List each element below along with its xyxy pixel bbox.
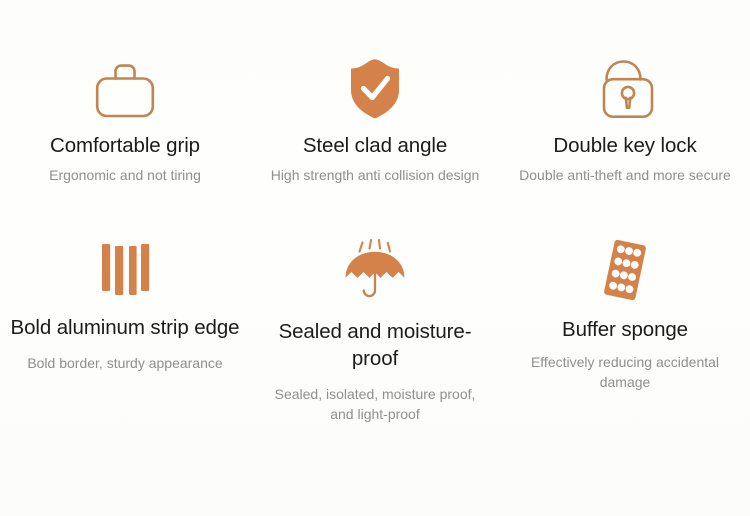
feature-title: Comfortable grip [50, 132, 200, 159]
feature-description: Effectively reducing accidental damage [518, 352, 733, 392]
feature-grid: Comfortable grip Ergonomic and not tirin… [0, 0, 750, 516]
shield-check-icon [347, 52, 403, 126]
feature-card-steel-clad-angle: Steel clad angle High strength anti coll… [250, 0, 500, 220]
feature-description: Bold border, sturdy appearance [27, 353, 222, 373]
feature-card-comfortable-grip: Comfortable grip Ergonomic and not tirin… [0, 0, 250, 220]
umbrella-icon [342, 234, 408, 308]
feature-card-sealed-moisture-proof: Sealed and moisture-proof Sealed, isolat… [250, 220, 500, 470]
feature-card-buffer-sponge: Buffer sponge Effectively reducing accid… [500, 220, 750, 470]
feature-card-bold-aluminum-strip-edge: Bold aluminum strip edge Bold border, st… [0, 220, 250, 470]
feature-description: Sealed, isolated, moisture proof, and li… [268, 384, 483, 424]
briefcase-icon [94, 52, 156, 126]
feature-description: Ergonomic and not tiring [49, 165, 201, 185]
feature-title: Double key lock [553, 132, 696, 159]
feature-title: Buffer sponge [562, 316, 688, 343]
aluminum-bars-icon [98, 234, 152, 304]
sponge-icon [597, 234, 653, 306]
feature-card-double-key-lock: Double key lock Double anti-theft and mo… [500, 0, 750, 220]
feature-description: High strength anti collision design [271, 165, 480, 185]
feature-title: Sealed and moisture-proof [260, 318, 490, 372]
open-padlock-icon [595, 52, 655, 126]
feature-title: Bold aluminum strip edge [11, 314, 240, 341]
feature-description: Double anti-theft and more secure [519, 165, 731, 185]
feature-title: Steel clad angle [303, 132, 447, 159]
